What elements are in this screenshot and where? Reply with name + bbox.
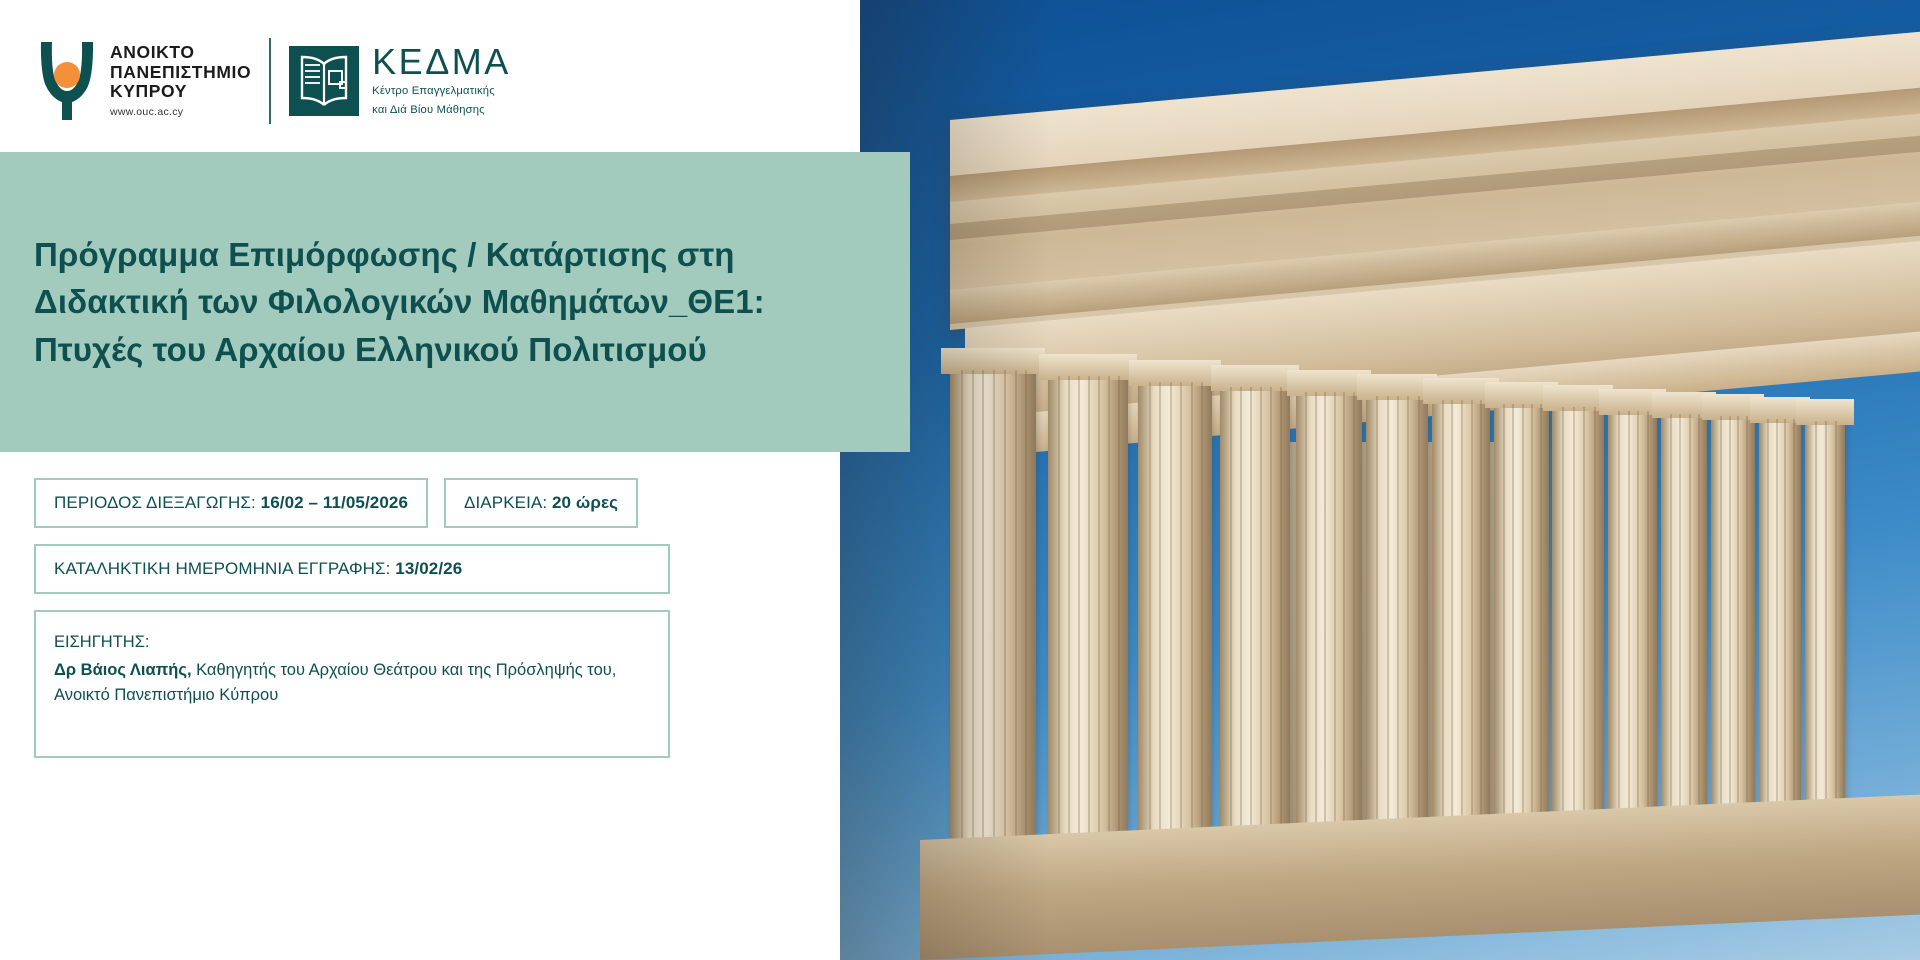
info-boxes: ΠΕΡΙΟΔΟΣ ΔΙΕΞΑΓΩΓΗΣ: 16/02 – 11/05/2026 … — [34, 478, 670, 758]
doric-column — [1138, 382, 1212, 887]
doric-column — [1296, 392, 1362, 884]
instructor-detail-1: Καθηγητής του Αρχαίου Θεάτρου και της Πρ… — [192, 661, 617, 679]
period-box: ΠΕΡΙΟΔΟΣ ΔΙΕΞΑΓΩΓΗΣ: 16/02 – 11/05/2026 — [34, 478, 428, 528]
ouc-logo-text: ΑΝΟΙΚΤΟ ΠΑΝΕΠΙΣΤΗΜΙΟ ΚΥΠΡΟΥ www.ouc.ac.c… — [110, 43, 251, 119]
title-line-2: Διδακτική των Φιλολογικών Μαθημάτων_ΘΕ1: — [34, 278, 765, 326]
doric-column — [1220, 387, 1290, 885]
open-book-icon — [289, 46, 359, 116]
instructor-details: Δρ Βάιος Λιαπής, Καθηγητής του Αρχαίου Θ… — [54, 658, 650, 708]
kedma-logo-text: ΚΕΔΜΑ Κέντρο Επαγγελματικής και Διά Βίου… — [372, 44, 511, 118]
course-banner: ΑΝΟΙΚΤΟ ΠΑΝΕΠΙΣΤΗΜΙΟ ΚΥΠΡΟΥ www.ouc.ac.c… — [0, 0, 1920, 960]
ouc-line-3: ΚΥΠΡΟΥ — [110, 82, 251, 102]
period-value: 16/02 – 11/05/2026 — [261, 493, 408, 513]
kedma-title: ΚΕΔΜΑ — [372, 44, 511, 80]
period-label: ΠΕΡΙΟΔΟΣ ΔΙΕΞΑΓΩΓΗΣ: — [54, 493, 256, 513]
ouc-website-url: www.ouc.ac.cy — [110, 107, 251, 119]
instructor-box: ΕΙΣΗΓΗΤΗΣ: Δρ Βάιος Λιαπής, Καθηγητής το… — [34, 610, 670, 758]
cupped-hands-orange-dot-icon — [38, 39, 96, 123]
info-row-top: ΠΕΡΙΟΔΟΣ ΔΙΕΞΑΓΩΓΗΣ: 16/02 – 11/05/2026 … — [34, 478, 670, 528]
photo-left-shadow — [840, 0, 1050, 960]
info-row-deadline: ΚΑΤΑΛΗΚΤΙΚΗ ΗΜΕΡΟΜΗΝΙΑ ΕΓΓΡΑΦΗΣ: 13/02/2… — [34, 544, 670, 594]
kedma-subtitle-2: και Διά Βίου Μάθησης — [372, 103, 511, 118]
instructor-detail-2: Ανοικτό Πανεπιστήμιο Κύπρου — [54, 686, 278, 704]
duration-value: 20 ώρες — [552, 493, 618, 513]
logo-bar: ΑΝΟΙΚΤΟ ΠΑΝΕΠΙΣΤΗΜΙΟ ΚΥΠΡΟΥ www.ouc.ac.c… — [38, 38, 511, 124]
doric-column — [1494, 404, 1549, 879]
title-line-3: Πτυχές του Αρχαίου Ελληνικού Πολιτισμού — [34, 326, 765, 374]
deadline-value: 13/02/26 — [395, 559, 462, 579]
doric-column — [1432, 400, 1490, 880]
doric-column — [1366, 396, 1428, 882]
duration-box: ΔΙΑΡΚΕΙΑ: 20 ώρες — [444, 478, 638, 528]
instructor-label: ΕΙΣΗΓΗΤΗΣ: — [54, 630, 650, 655]
instructor-name: Δρ Βάιος Λιαπής, — [54, 661, 192, 679]
logo-divider — [269, 38, 271, 124]
ouc-logo: ΑΝΟΙΚΤΟ ΠΑΝΕΠΙΣΤΗΜΙΟ ΚΥΠΡΟΥ www.ouc.ac.c… — [38, 39, 251, 123]
doric-column — [1552, 407, 1604, 877]
ouc-line-1: ΑΝΟΙΚΤΟ — [110, 43, 251, 63]
parthenon-photo — [840, 0, 1920, 960]
duration-label: ΔΙΑΡΚΕΙΑ: — [464, 493, 547, 513]
deadline-box: ΚΑΤΑΛΗΚΤΙΚΗ ΗΜΕΡΟΜΗΝΙΑ ΕΓΓΡΑΦΗΣ: 13/02/2… — [34, 544, 670, 594]
page-title: Πρόγραμμα Επιμόρφωσης / Κατάρτισης στη Δ… — [0, 231, 805, 374]
ouc-line-2: ΠΑΝΕΠΙΣΤΗΜΙΟ — [110, 63, 251, 83]
title-line-1: Πρόγραμμα Επιμόρφωσης / Κατάρτισης στη — [34, 231, 765, 279]
kedma-logo: ΚΕΔΜΑ Κέντρο Επαγγελματικής και Διά Βίου… — [289, 44, 511, 118]
left-content-panel: ΑΝΟΙΚΤΟ ΠΑΝΕΠΙΣΤΗΜΙΟ ΚΥΠΡΟΥ www.ouc.ac.c… — [0, 0, 860, 960]
doric-column — [1048, 376, 1128, 888]
deadline-label: ΚΑΤΑΛΗΚΤΙΚΗ ΗΜΕΡΟΜΗΝΙΑ ΕΓΓΡΑΦΗΣ: — [54, 559, 390, 579]
title-band: Πρόγραμμα Επιμόρφωσης / Κατάρτισης στη Δ… — [0, 152, 910, 452]
kedma-subtitle-1: Κέντρο Επαγγελματικής — [372, 84, 511, 99]
